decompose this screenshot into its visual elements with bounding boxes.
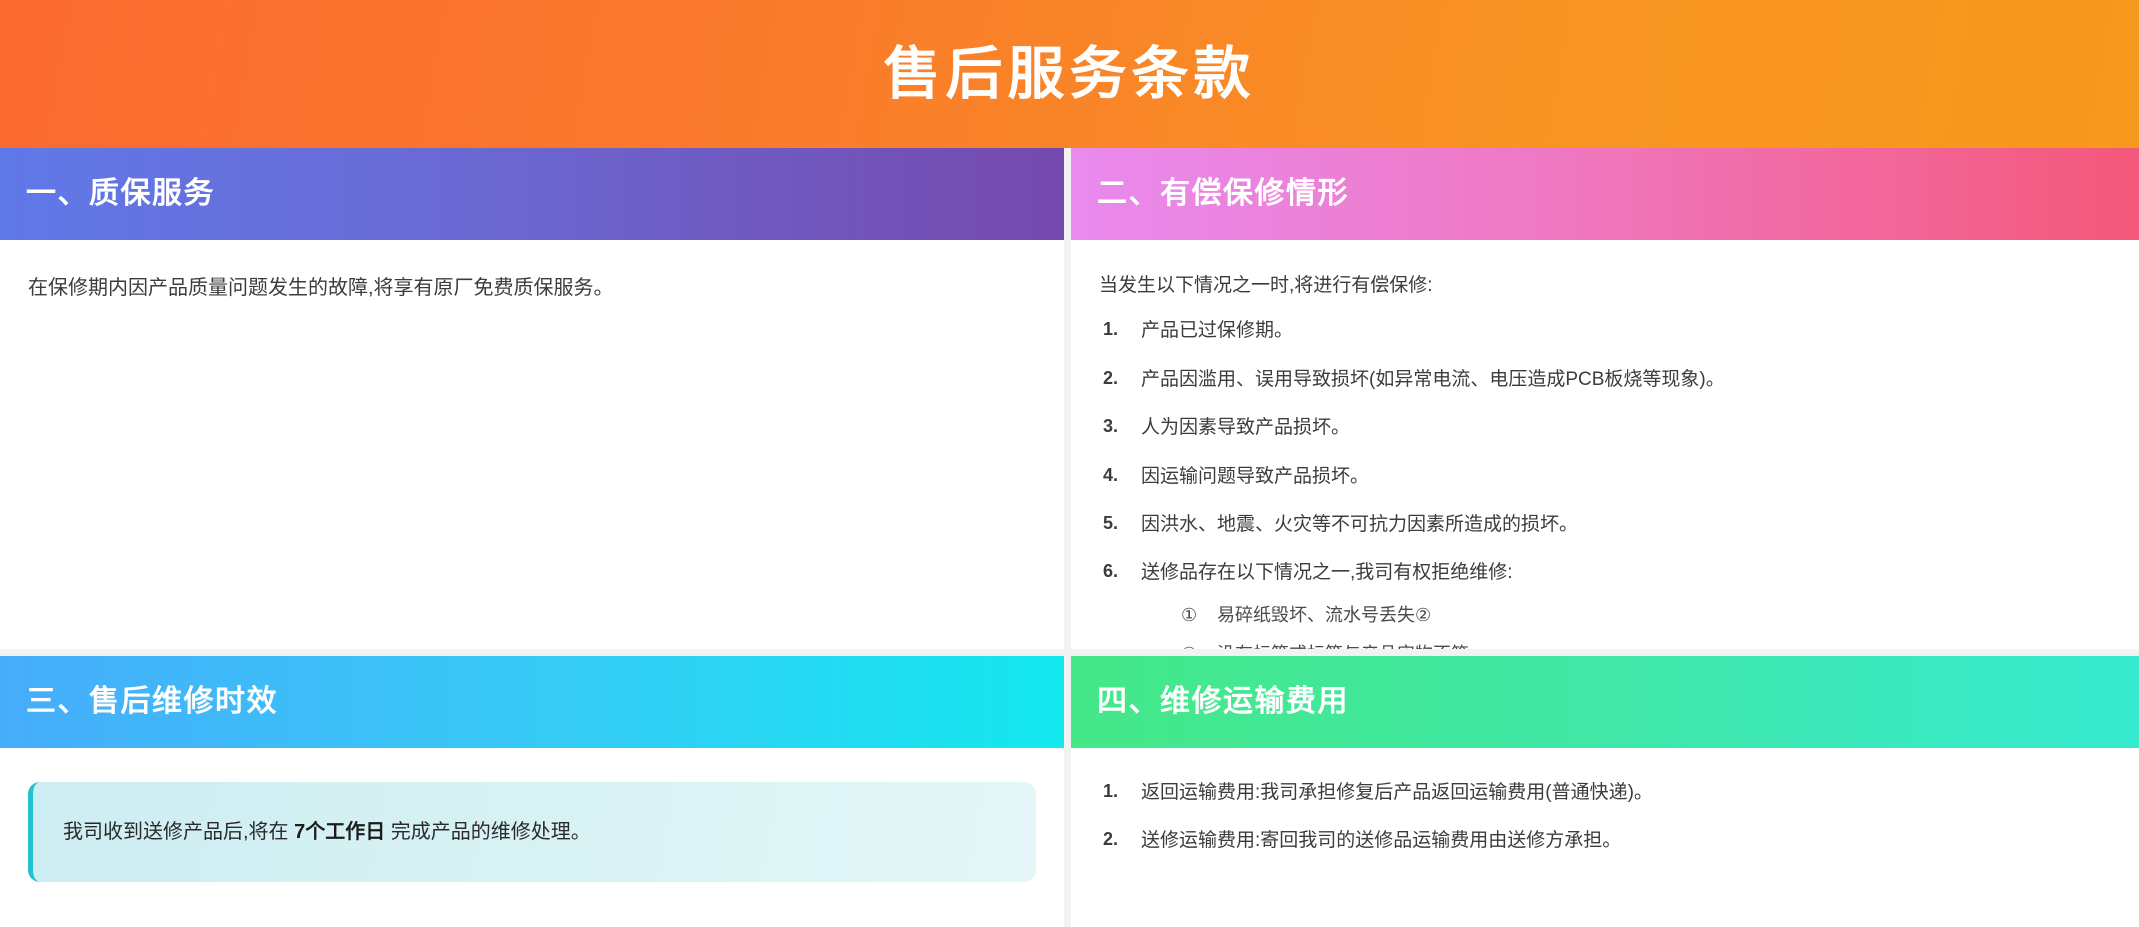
list-item-number: 4. (1099, 462, 1141, 490)
list-item: 1. 返回运输费用:我司承担修复后产品返回运输费用(普通快递)。 (1099, 778, 2111, 807)
list-item-number: 6. (1099, 558, 1141, 586)
section-body-warranty-service: 在保修期内因产品质量问题发生的故障,将享有原厂免费质保服务。 (0, 240, 1064, 649)
section-heading-label: 二、有偿保修情形 (1097, 179, 1349, 209)
sublist-item: ① 易碎纸毁坏、流水号丢失② (1181, 602, 2111, 629)
list-item-text: 产品已过保修期。 (1141, 316, 2111, 345)
section-header-warranty-service: 一、质保服务 (0, 148, 1064, 240)
list-item-text: 人为因素导致产品损坏。 (1141, 413, 2111, 442)
section-header-repair-turnaround: 三、售后维修时效 (0, 656, 1064, 748)
page-title: 售后服务条款 (884, 46, 1256, 103)
sections-grid: 一、质保服务 在保修期内因产品质量问题发生的故障,将享有原厂免费质保服务。 二、… (0, 148, 2139, 927)
list-item: 6. 送修品存在以下情况之一,我司有权拒绝维修: ① 易碎纸毁坏、流水号丢失② … (1099, 558, 2111, 649)
list-item-text: 因洪水、地震、火灾等不可抗力因素所造成的损坏。 (1141, 510, 2111, 539)
section-panel-warranty-service: 一、质保服务 在保修期内因产品质量问题发生的故障,将享有原厂免费质保服务。 (0, 148, 1071, 656)
list-item-text: 送修运输费用:寄回我司的送修品运输费用由送修方承担。 (1141, 826, 2111, 855)
section-heading-label: 一、质保服务 (26, 179, 215, 209)
sublist-item: ② 没有标签或标签与产品实物不符 (1181, 641, 2111, 649)
list-item: 5. 因洪水、地震、火灾等不可抗力因素所造成的损坏。 (1099, 510, 2111, 539)
callout-highlight-text: 7个工作日 (294, 821, 385, 843)
section-panel-paid-repair: 二、有偿保修情形 当发生以下情况之一时,将进行有偿保修: 1. 产品已过保修期。… (1071, 148, 2139, 656)
list-item-number: 5. (1099, 510, 1141, 538)
section-panel-shipping-fees: 四、维修运输费用 1. 返回运输费用:我司承担修复后产品返回运输费用(普通快递)… (1071, 656, 2139, 927)
refusal-conditions-sublist: ① 易碎纸毁坏、流水号丢失② ② 没有标签或标签与产品实物不符 ③ 未经我司授权… (1141, 602, 2111, 649)
list-item-text: 因运输问题导致产品损坏。 (1141, 462, 2111, 491)
sublist-item-text: 易碎纸毁坏、流水号丢失② (1217, 602, 2111, 629)
paid-repair-list: 1. 产品已过保修期。 2. 产品因滥用、误用导致损坏(如异常电流、电压造成PC… (1099, 316, 2111, 649)
list-item-number: 3. (1099, 413, 1141, 441)
section-heading-label: 四、维修运输费用 (1097, 687, 1349, 717)
section-heading-label: 三、售后维修时效 (26, 687, 278, 717)
sublist-item-text: 没有标签或标签与产品实物不符 (1217, 641, 2111, 649)
section-panel-repair-turnaround: 三、售后维修时效 我司收到送修产品后,将在 7个工作日 完成产品的维修处理。 (0, 656, 1071, 927)
list-item-number: 2. (1099, 826, 1141, 854)
callout-prefix-text: 我司收到送修产品后,将在 (63, 821, 294, 843)
list-item-number: 1. (1099, 778, 1141, 806)
turnaround-callout-text: 我司收到送修产品后,将在 7个工作日 完成产品的维修处理。 (63, 816, 591, 848)
list-item: 2. 送修运输费用:寄回我司的送修品运输费用由送修方承担。 (1099, 826, 2111, 855)
list-item: 2. 产品因滥用、误用导致损坏(如异常电流、电压造成PCB板烧等现象)。 (1099, 365, 2111, 394)
section-header-paid-repair: 二、有偿保修情形 (1071, 148, 2139, 240)
warranty-service-paragraph: 在保修期内因产品质量问题发生的故障,将享有原厂免费质保服务。 (28, 270, 1036, 306)
list-item-number: 1. (1099, 316, 1141, 344)
list-item-number: 2. (1099, 365, 1141, 393)
section-header-shipping-fees: 四、维修运输费用 (1071, 656, 2139, 748)
list-item-text: 送修品存在以下情况之一,我司有权拒绝维修: (1141, 562, 1513, 583)
sublist-item-number: ② (1181, 641, 1217, 649)
list-item: 1. 产品已过保修期。 (1099, 316, 2111, 345)
list-item-text: 返回运输费用:我司承担修复后产品返回运输费用(普通快递)。 (1141, 778, 2111, 807)
sublist-item-number: ① (1181, 602, 1217, 629)
page-title-banner: 售后服务条款 (0, 0, 2139, 148)
list-item: 3. 人为因素导致产品损坏。 (1099, 413, 2111, 442)
shipping-fees-list: 1. 返回运输费用:我司承担修复后产品返回运输费用(普通快递)。 2. 送修运输… (1099, 778, 2111, 856)
section-body-shipping-fees: 1. 返回运输费用:我司承担修复后产品返回运输费用(普通快递)。 2. 送修运输… (1071, 748, 2139, 927)
after-sales-terms-page: 售后服务条款 一、质保服务 在保修期内因产品质量问题发生的故障,将享有原厂免费质… (0, 0, 2139, 927)
callout-suffix-text: 完成产品的维修处理。 (385, 821, 591, 843)
list-item: 4. 因运输问题导致产品损坏。 (1099, 462, 2111, 491)
section-body-paid-repair: 当发生以下情况之一时,将进行有偿保修: 1. 产品已过保修期。 2. 产品因滥用… (1071, 240, 2139, 649)
section-body-repair-turnaround: 我司收到送修产品后,将在 7个工作日 完成产品的维修处理。 (0, 748, 1064, 927)
paid-repair-lead-text: 当发生以下情况之一时,将进行有偿保修: (1099, 270, 2111, 302)
turnaround-callout-box: 我司收到送修产品后,将在 7个工作日 完成产品的维修处理。 (28, 782, 1036, 882)
list-item-text-with-sublist: 送修品存在以下情况之一,我司有权拒绝维修: ① 易碎纸毁坏、流水号丢失② ② 没… (1141, 558, 2111, 649)
list-item-text: 产品因滥用、误用导致损坏(如异常电流、电压造成PCB板烧等现象)。 (1141, 365, 2111, 394)
